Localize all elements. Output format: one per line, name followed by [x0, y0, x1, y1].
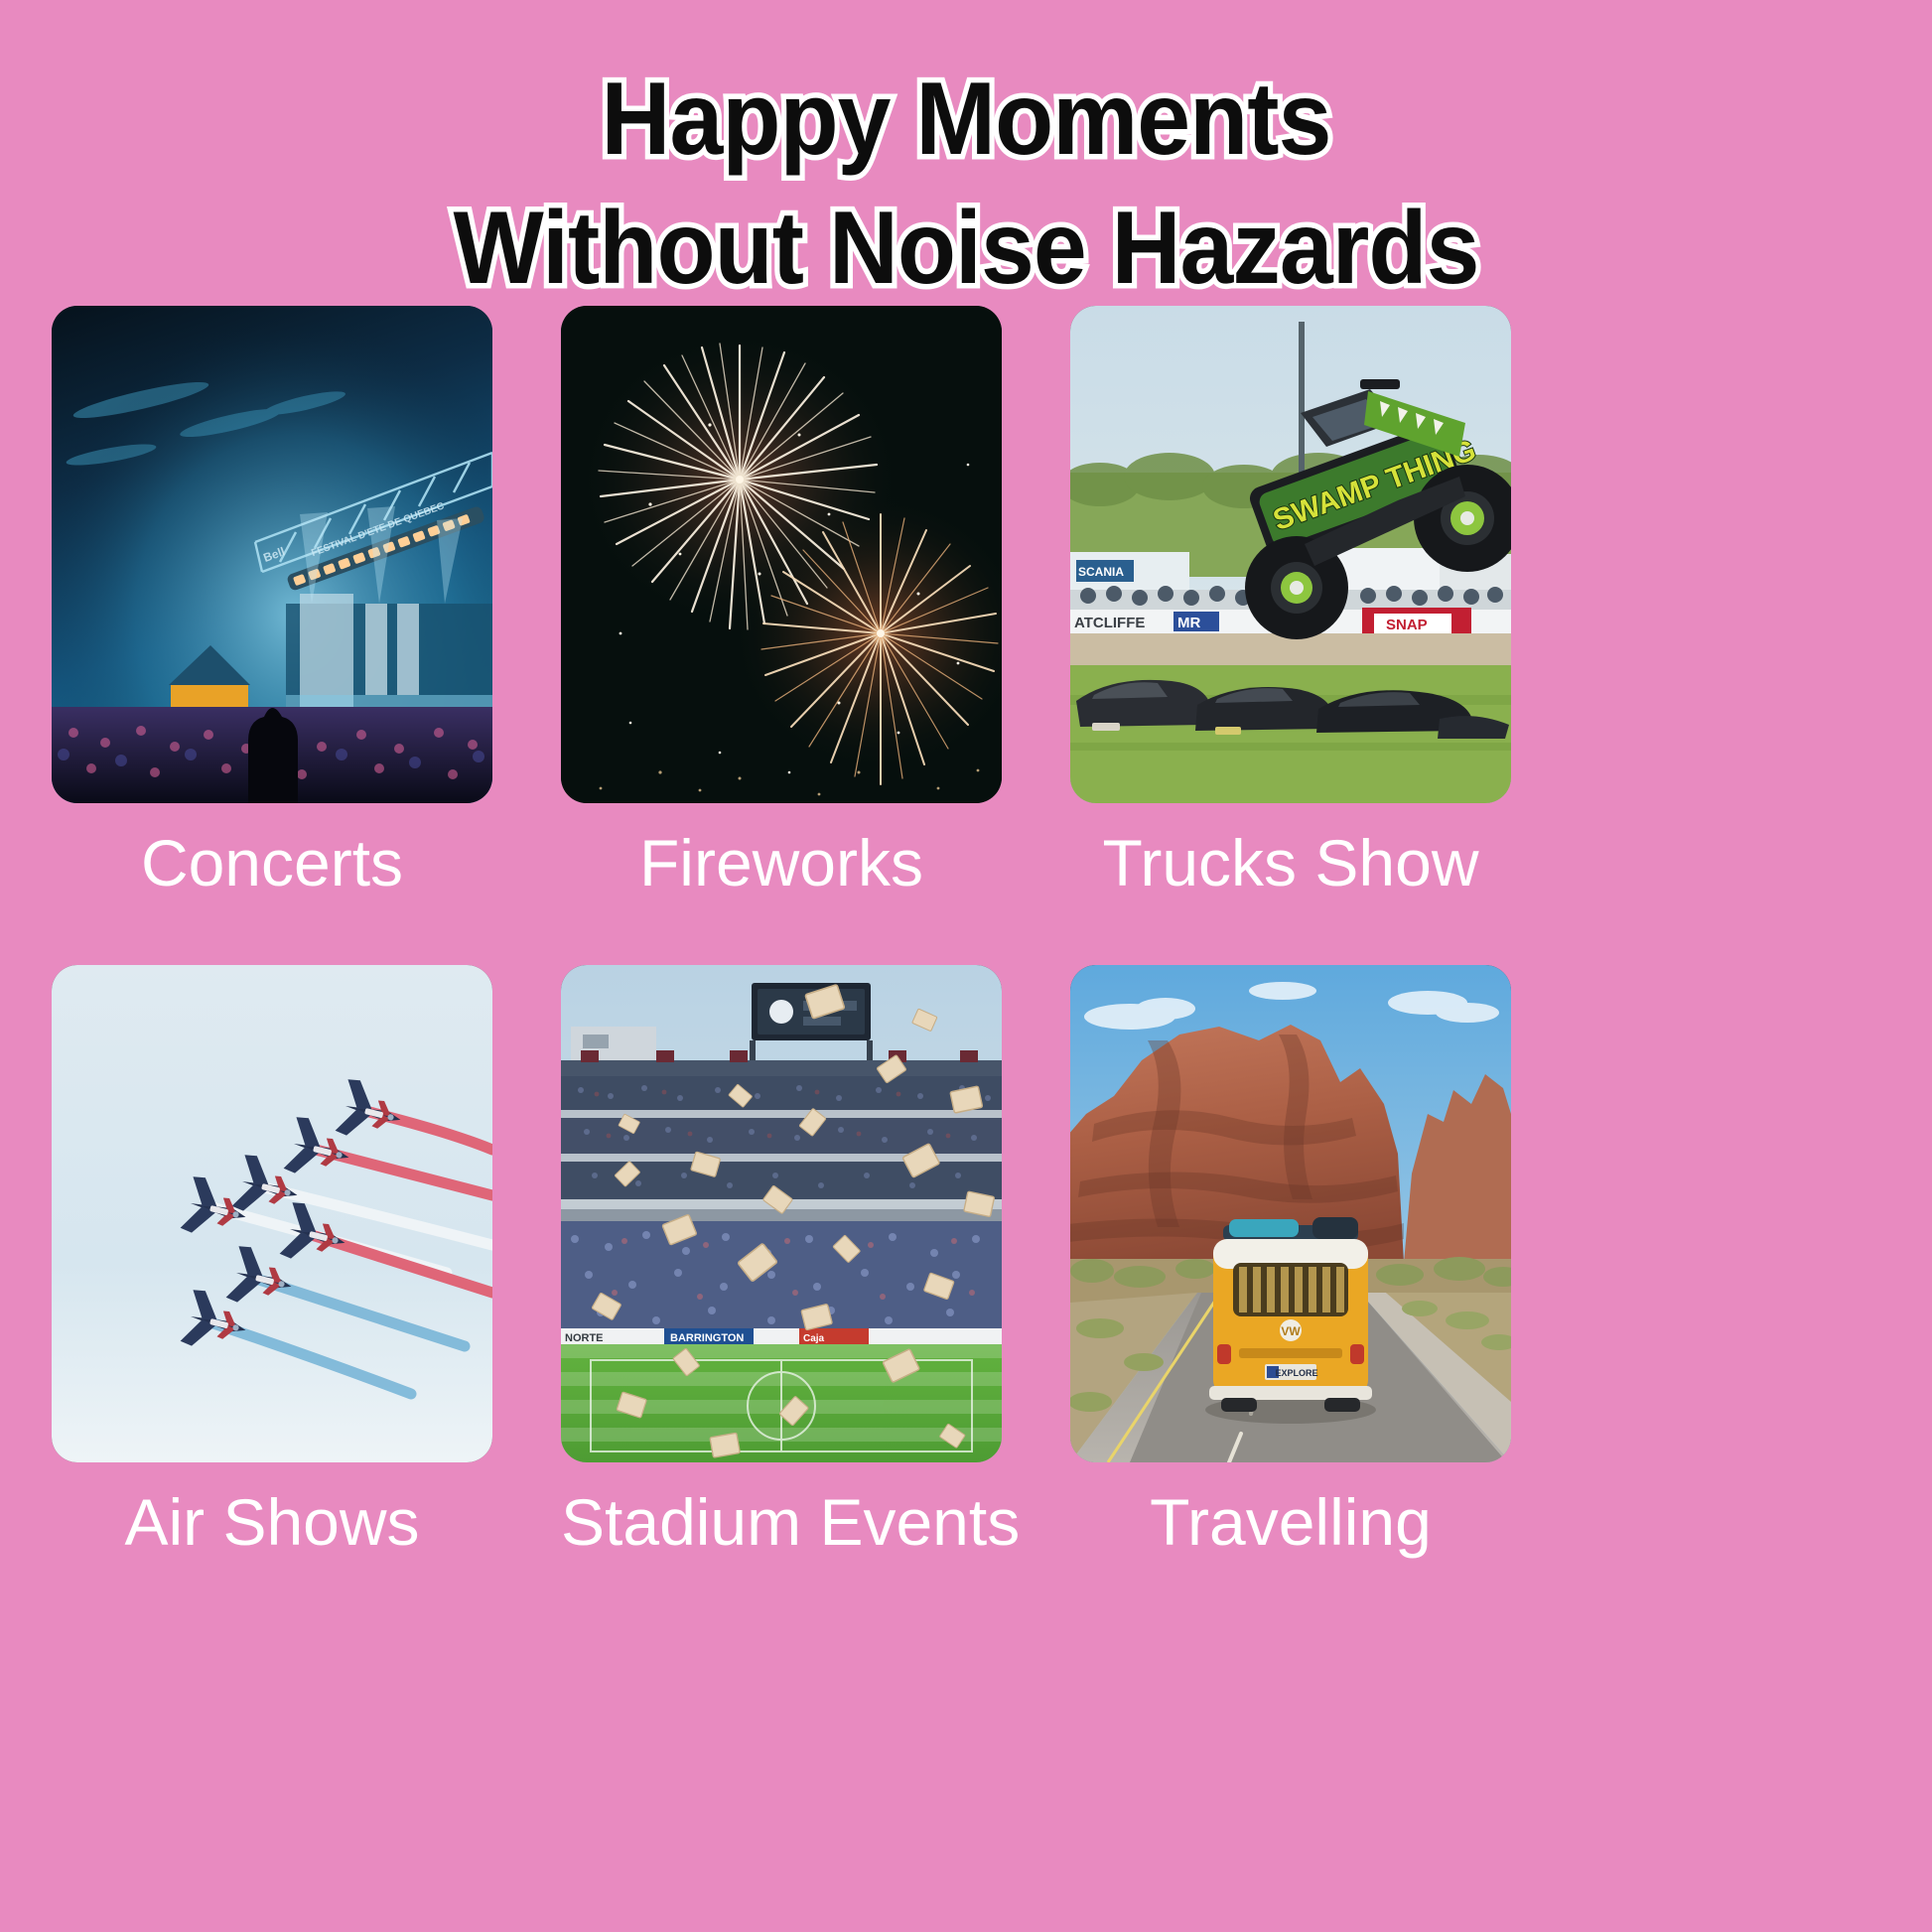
poster-canvas: Happy Moments Without Noise Hazards [0, 0, 1932, 1932]
tile-air-shows[interactable]: Air Shows [52, 965, 492, 1570]
svg-text:ATCLIFFE: ATCLIFFE [1074, 615, 1145, 631]
tile-label-travelling: Travelling [1070, 1474, 1511, 1570]
tile-label-trucks-show: Trucks Show [1070, 815, 1511, 910]
svg-text:SCANIA: SCANIA [1078, 565, 1124, 579]
tile-fireworks[interactable]: Fireworks [561, 306, 1002, 910]
svg-text:Caja: Caja [803, 1333, 825, 1344]
stadium-events-image[interactable]: BARRINGTON Caja NORTE [561, 965, 1002, 1462]
tile-travelling[interactable]: VW EXPLORE [1070, 965, 1511, 1570]
fireworks-image[interactable] [561, 306, 1002, 803]
tile-stadium-events[interactable]: BARRINGTON Caja NORTE [561, 965, 1002, 1570]
tile-grid: Bell FESTIVAL D'ETE DE QUEBEC [52, 306, 1883, 1570]
svg-text:EXPLORE: EXPLORE [1275, 1368, 1317, 1378]
page-title: Happy Moments Without Noise Hazards [0, 55, 1932, 313]
svg-text:VW: VW [1281, 1324, 1301, 1338]
tile-label-stadium-events: Stadium Events [561, 1474, 1002, 1570]
svg-text:NORTE: NORTE [565, 1332, 604, 1344]
concerts-image[interactable]: Bell FESTIVAL D'ETE DE QUEBEC [52, 306, 492, 803]
tile-trucks-show[interactable]: SCANIA ATCLIFFE MR [1070, 306, 1511, 910]
tile-concerts[interactable]: Bell FESTIVAL D'ETE DE QUEBEC [52, 306, 492, 910]
tile-label-fireworks: Fireworks [561, 815, 1002, 910]
tile-label-air-shows: Air Shows [52, 1474, 492, 1570]
tile-label-concerts: Concerts [52, 815, 492, 910]
svg-text:MR: MR [1177, 615, 1200, 631]
title-line-2: Without Noise Hazards [68, 184, 1864, 313]
title-line-1: Happy Moments [68, 55, 1864, 184]
travelling-image[interactable]: VW EXPLORE [1070, 965, 1511, 1462]
svg-text:SNAP: SNAP [1386, 617, 1428, 633]
air-shows-image[interactable] [52, 965, 492, 1462]
trucks-show-image[interactable]: SCANIA ATCLIFFE MR [1070, 306, 1511, 803]
svg-text:BARRINGTON: BARRINGTON [670, 1332, 744, 1344]
